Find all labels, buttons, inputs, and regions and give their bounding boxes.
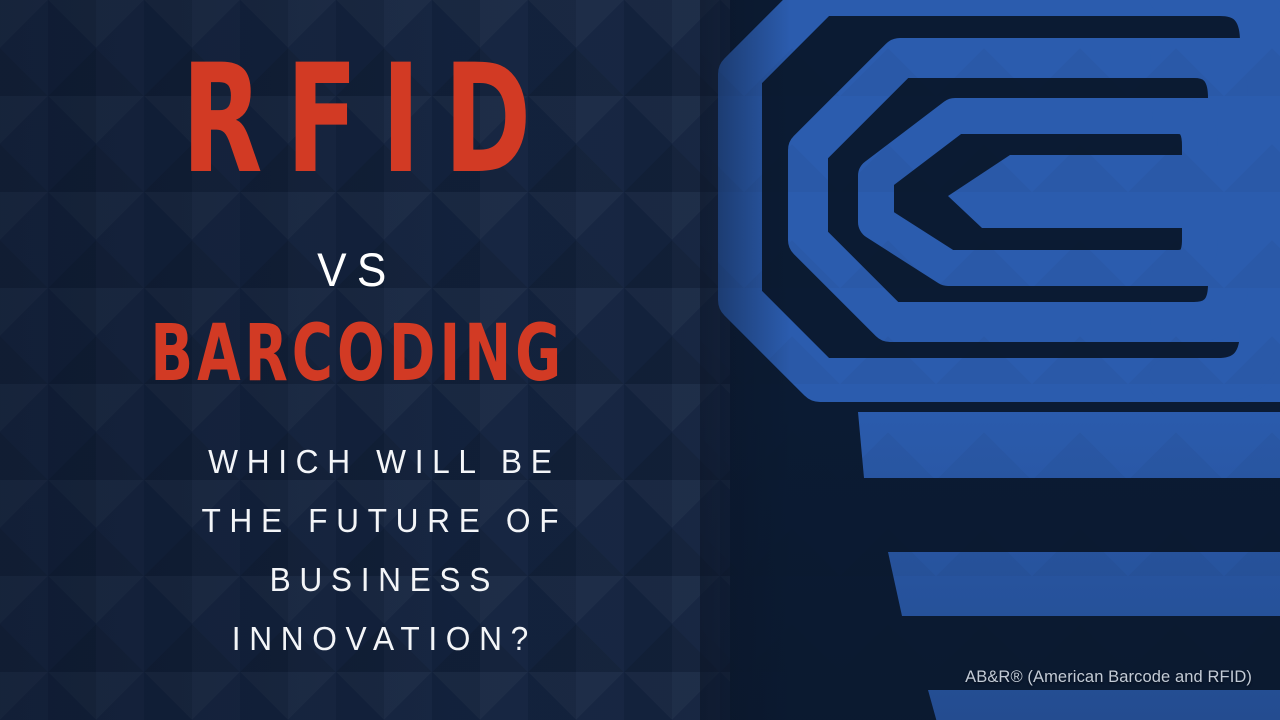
brand-credit: AB&R® (American Barcode and RFID) bbox=[965, 668, 1252, 687]
tagline-line-4: INNOVATION? bbox=[82, 609, 677, 668]
barcode-bar-1 bbox=[858, 412, 1280, 478]
tagline-line-3: BUSINESS bbox=[82, 550, 677, 609]
thumbnail-canvas: RFID VS BARCODING WHICH WILL BE THE FUTU… bbox=[0, 0, 1280, 720]
title-versus-label: VS bbox=[23, 246, 681, 293]
tagline-line-2: THE FUTURE OF bbox=[82, 491, 677, 550]
tagline: WHICH WILL BE THE FUTURE OF BUSINESS INN… bbox=[70, 432, 690, 668]
page-title-rfid: RFID bbox=[83, 45, 629, 195]
barcode-bar-3 bbox=[928, 690, 1280, 720]
page-title-barcoding: BARCODING bbox=[76, 315, 636, 393]
barcode-bar-2 bbox=[888, 552, 1280, 616]
tagline-line-1: WHICH WILL BE bbox=[82, 432, 677, 491]
title-text-block: RFID VS BARCODING WHICH WILL BE THE FUTU… bbox=[0, 0, 700, 720]
rfid-antenna-graphic bbox=[700, 0, 1280, 720]
rfid-antenna-svg bbox=[700, 0, 1280, 720]
